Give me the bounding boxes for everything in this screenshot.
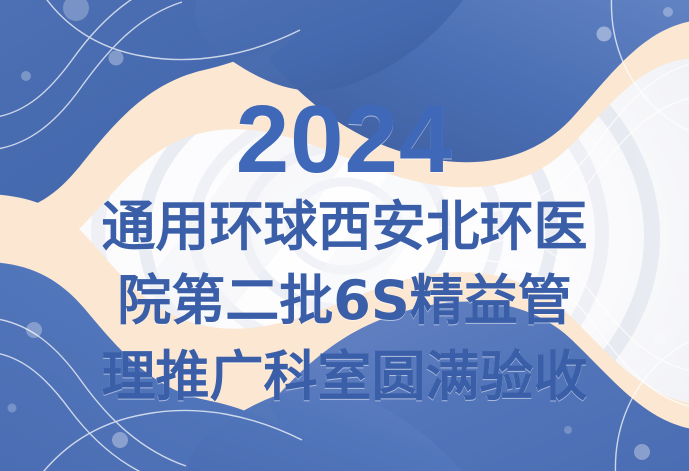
dot-icon [564,426,572,434]
dot-icon [26,322,42,338]
dot-icon [21,71,31,81]
decorative-background [0,0,689,471]
dot-icon [642,92,650,100]
dot-icon [112,432,128,448]
dot-icon [634,444,650,460]
dot-icon [597,27,612,42]
poster-canvas: 2024 通用环球西安北环医 院第二批6S精益管 理推广科室圆满验收 [0,0,689,471]
dot-icon [109,51,124,66]
dot-icon [663,7,673,17]
dot-icon [654,332,666,344]
dot-icon [8,404,17,413]
